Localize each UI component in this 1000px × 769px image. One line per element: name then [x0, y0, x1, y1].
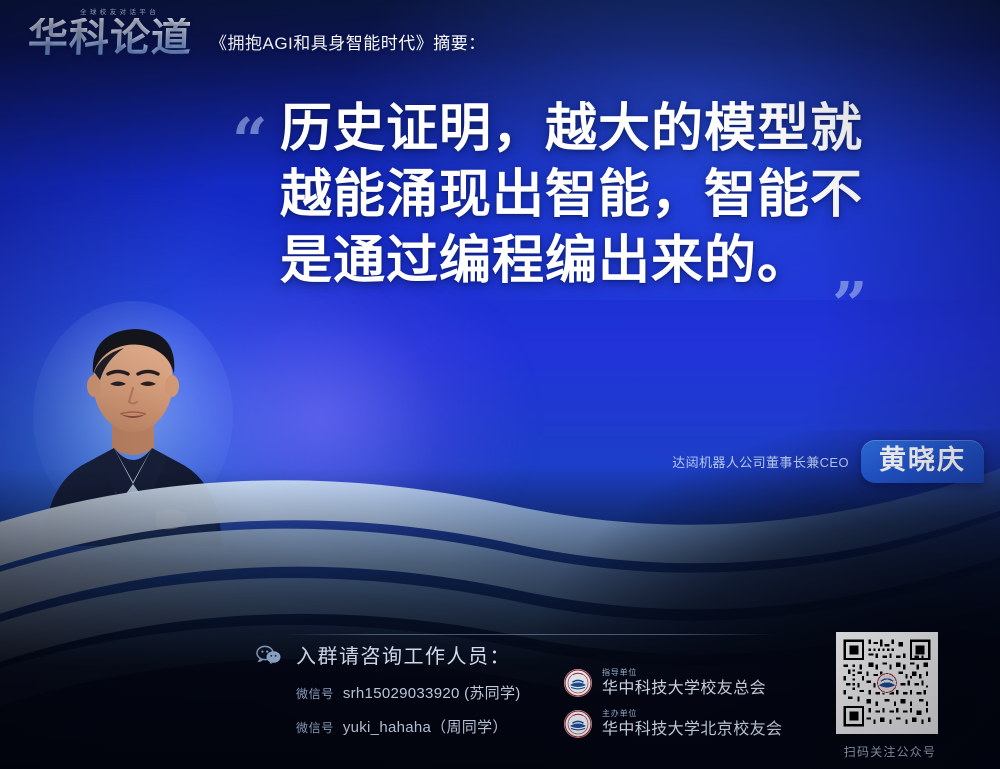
qr-code[interactable]: [836, 632, 938, 734]
qr-code-image: [839, 635, 935, 731]
organization-list: 指导单位 华中科技大学校友总会 主办单位 华中科技大学北京校友会: [563, 668, 782, 750]
quote-line: 是通过编程编出来的。: [280, 228, 972, 294]
hust-seal-icon: [563, 668, 593, 698]
logo-wordmark: 华科论道: [27, 18, 192, 58]
header-subtitle: 《拥抱AGI和具身智能时代》摘要：: [210, 29, 486, 58]
brand-logo: 全球校友对话平台 华科论道: [28, 18, 192, 58]
quote-lines: 历史证明，越大的模型就 越能涌现出智能，智能不 是通过编程编出来的。: [280, 96, 972, 294]
speaker-attribution: 达闼机器人公司董事长兼CEO 黄晓庆: [672, 440, 984, 483]
qr-caption: 扫码关注公众号: [836, 743, 944, 760]
hust-seal-icon: [563, 709, 593, 739]
quote-block: “ 历史证明，越大的模型就 越能涌现出智能，智能不 是通过编程编出来的。 ”: [232, 96, 972, 294]
footer-divider: [286, 634, 776, 635]
organization-item: 指导单位 华中科技大学校友总会: [563, 668, 782, 698]
organization-name: 华中科技大学校友总会: [602, 681, 766, 697]
wechat-label: 微信号: [296, 685, 334, 702]
organization-kicker: 主办单位: [602, 710, 782, 718]
qr-section: 扫码关注公众号: [836, 632, 944, 760]
wechat-id[interactable]: srh15029033920 (苏同学): [343, 682, 521, 703]
contact-header: 入群请咨询工作人员：: [256, 640, 796, 669]
quote-open-mark: “: [232, 110, 268, 172]
organization-texts: 指导单位 华中科技大学校友总会: [602, 669, 766, 697]
header: 全球校友对话平台 华科论道 《拥抱AGI和具身智能时代》摘要：: [28, 18, 486, 58]
organization-item: 主办单位 华中科技大学北京校友会: [563, 709, 782, 739]
speaker-title: 达闼机器人公司董事长兼CEO: [672, 452, 849, 471]
wechat-icon: [256, 645, 282, 665]
quote-line: 历史证明，越大的模型就: [280, 96, 972, 162]
quote-line: 越能涌现出智能，智能不: [280, 162, 972, 228]
wechat-label: 微信号: [296, 719, 334, 736]
organization-kicker: 指导单位: [602, 669, 766, 677]
speaker-name-badge: 黄晓庆: [861, 440, 984, 483]
organization-texts: 主办单位 华中科技大学北京校友会: [602, 710, 782, 738]
organization-name: 华中科技大学北京校友会: [602, 722, 782, 738]
quote-close-mark: ”: [832, 274, 868, 336]
poster-canvas: 全球校友对话平台 华科论道 《拥抱AGI和具身智能时代》摘要： “ 历史证明，越…: [0, 0, 1000, 769]
contact-title: 入群请咨询工作人员：: [296, 640, 511, 669]
wechat-id[interactable]: yuki_hahaha（周同学）: [343, 716, 508, 737]
